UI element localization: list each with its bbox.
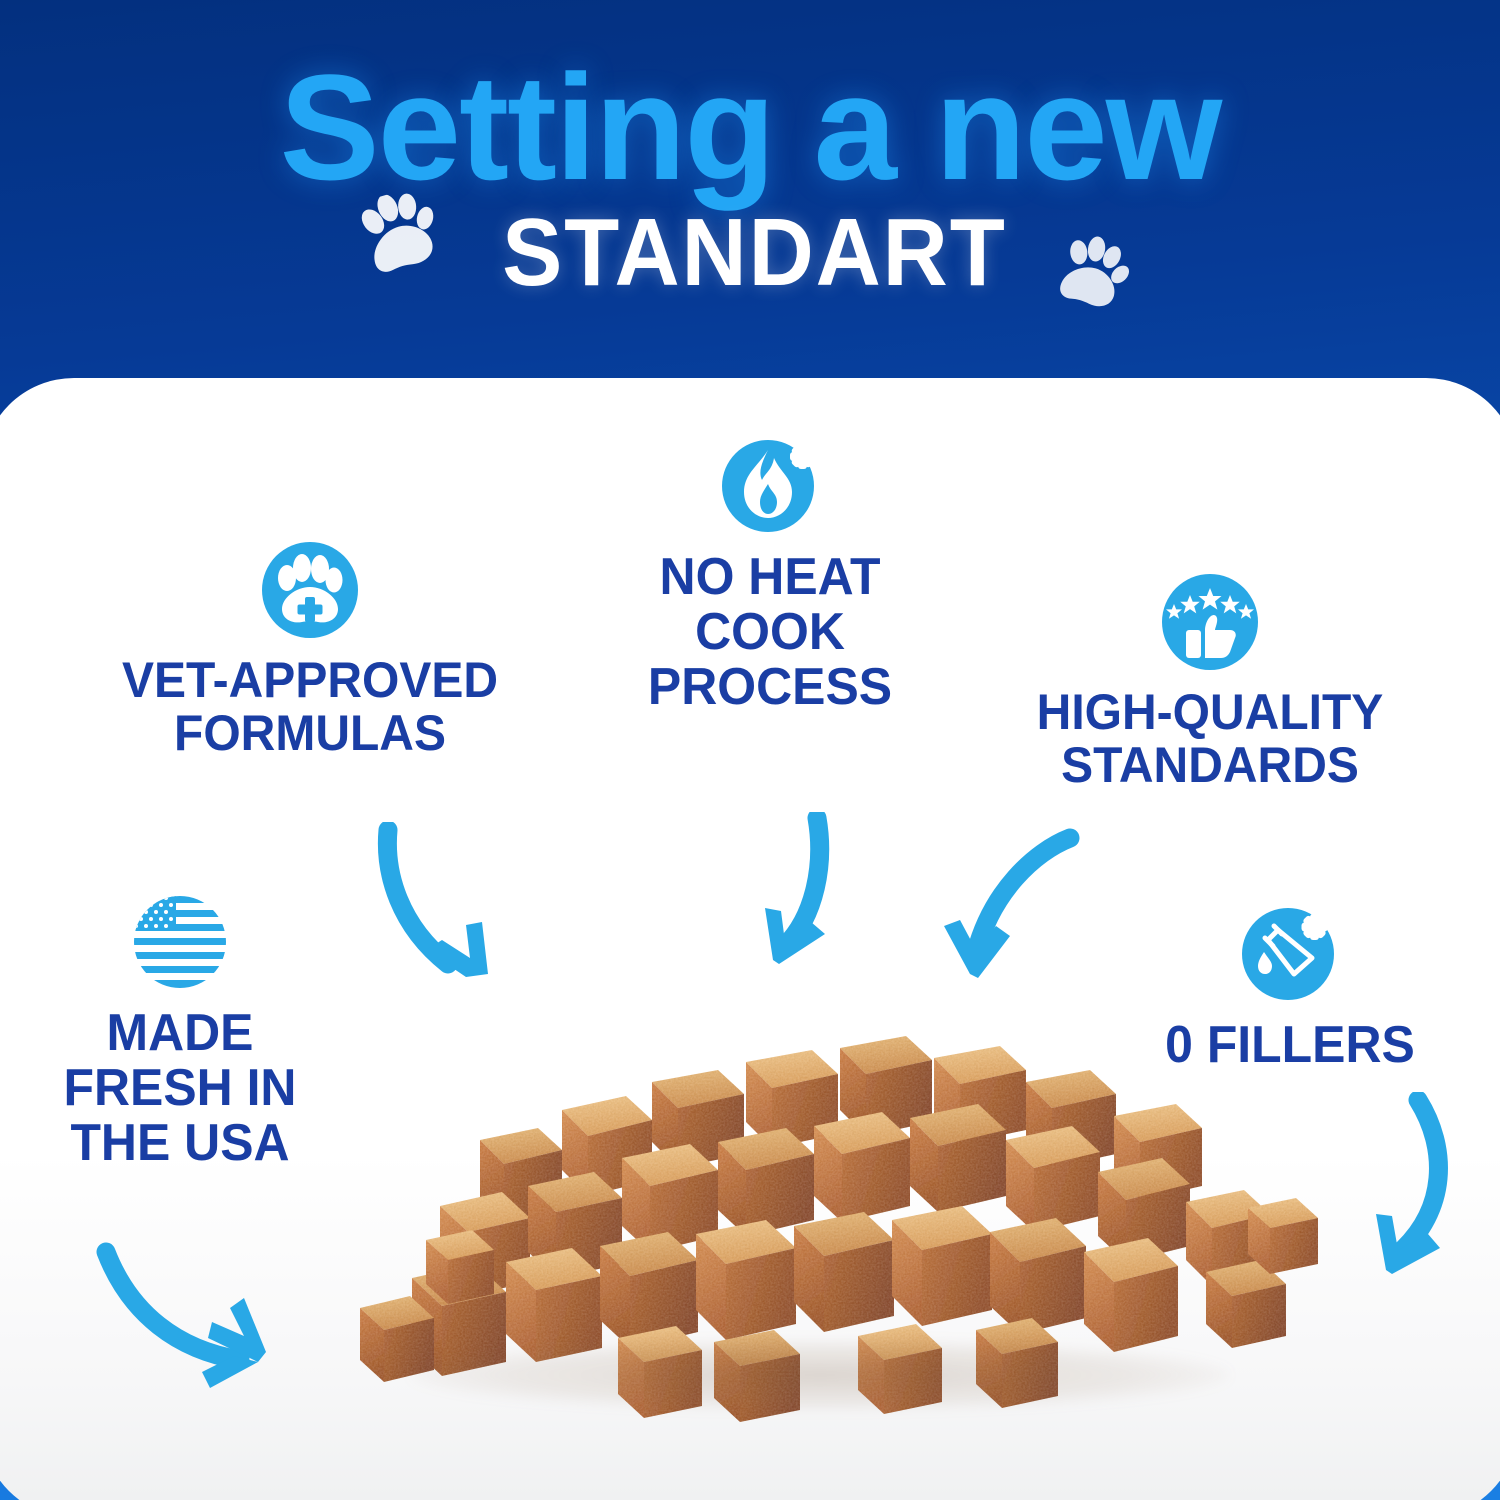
- curved-arrow-icon: [370, 822, 510, 1007]
- feature-label: HIGH-QUALITY STANDARDS: [970, 686, 1450, 792]
- feature-label: MADE FRESH IN THE USA: [26, 1006, 333, 1171]
- page-headline: Setting a new: [0, 52, 1500, 202]
- feature-label: 0 FILLERS: [1127, 1018, 1453, 1073]
- feature-made-in-usa: MADE FRESH IN THE USA: [20, 892, 340, 1171]
- feature-zero-fillers: 0 FILLERS: [1120, 900, 1460, 1073]
- feature-high-quality: HIGH-QUALITY STANDARDS: [960, 572, 1460, 792]
- pile-shadow: [410, 1340, 1230, 1410]
- curved-arrow-icon: [1352, 1092, 1482, 1297]
- page-subheadline: STANDART: [502, 205, 1007, 301]
- infographic-poster: Setting a new STANDART: [0, 0, 1500, 1500]
- feature-label: VET-APPROVED FORMULAS: [65, 654, 555, 760]
- thumbs-up-five-stars-icon: [960, 572, 1460, 672]
- no-chemical-flask-icon: [1120, 900, 1460, 1004]
- usa-flag-circle-icon: [20, 892, 340, 992]
- curved-arrow-icon: [930, 822, 1080, 997]
- header-banner: Setting a new STANDART: [0, 0, 1500, 400]
- curved-arrow-icon: [92, 1240, 282, 1415]
- feature-no-heat-cook: NO HEAT COOK PROCESS: [585, 432, 955, 715]
- feature-label: NO HEAT COOK PROCESS: [592, 550, 947, 715]
- paw-with-medical-cross-icon: [55, 540, 565, 640]
- curved-arrow-icon: [735, 812, 855, 987]
- feature-vet-approved: VET-APPROVED FORMULAS: [55, 540, 565, 760]
- no-heat-flame-icon: [585, 432, 955, 536]
- paw-print-icon: [1048, 227, 1138, 324]
- subheadline-row: STANDART: [0, 205, 1500, 301]
